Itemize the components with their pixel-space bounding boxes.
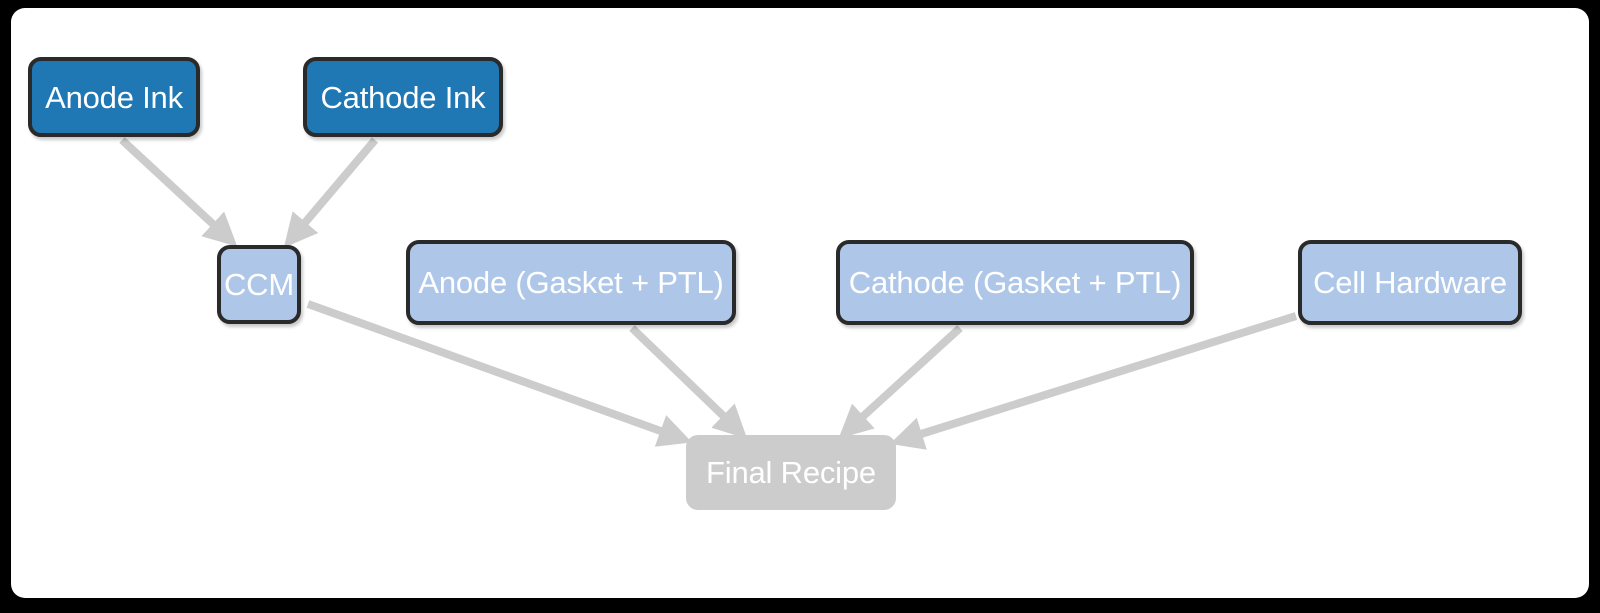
node-label-cathode-gasket: Cathode (Gasket + PTL) [849,267,1181,298]
edge-cathode-ink-to-ccm [292,140,375,238]
node-label-cathode-ink: Cathode Ink [321,82,486,113]
node-ccm[interactable]: CCM [217,245,301,324]
node-label-anode-ink: Anode Ink [45,82,183,113]
edge-cell-hardware-to-final-recipe [902,316,1296,440]
edge-anode-ink-to-ccm [122,140,228,238]
node-label-final-recipe: Final Recipe [706,457,876,488]
node-label-anode-gasket: Anode (Gasket + PTL) [418,267,723,298]
node-cathode-gasket[interactable]: Cathode (Gasket + PTL) [836,240,1194,325]
edge-cathode-gasket-to-final-recipe [848,328,960,430]
node-cathode-ink[interactable]: Cathode Ink [303,57,503,137]
node-label-ccm: CCM [224,269,294,300]
edge-anode-gasket-to-final-recipe [632,328,738,430]
node-anode-ink[interactable]: Anode Ink [28,57,200,137]
node-final-recipe[interactable]: Final Recipe [686,435,896,510]
diagram-canvas: Anode InkCathode InkCCMAnode (Gasket + P… [0,0,1600,613]
node-anode-gasket[interactable]: Anode (Gasket + PTL) [406,240,736,325]
node-cell-hardware[interactable]: Cell Hardware [1298,240,1522,325]
node-label-cell-hardware: Cell Hardware [1313,267,1507,298]
